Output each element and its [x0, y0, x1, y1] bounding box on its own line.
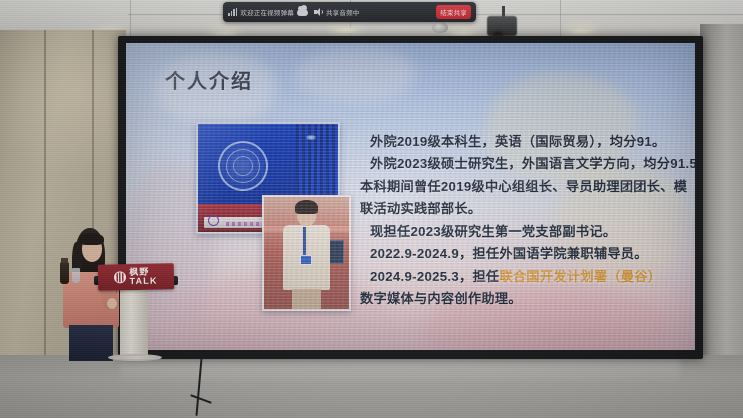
- badge-icon: [300, 255, 312, 265]
- water-bottle: [60, 262, 69, 284]
- slide-line: 外院2023级硕士研究生，外国语言文学方向，均分91.5。: [360, 157, 690, 170]
- decorative-blob: [296, 47, 416, 102]
- stop-share-label: 结束共享: [440, 7, 467, 17]
- cloud-icon: [297, 9, 308, 16]
- slide-line: 外院2019级本科生，英语（国际贸易），均分91。: [360, 135, 690, 148]
- ceiling-downlight: [333, 27, 359, 34]
- ceiling-seam: [130, 0, 131, 36]
- podium: 枫野 TALK: [94, 276, 178, 360]
- speaker-icon: [314, 8, 323, 16]
- slide-surface: 个人介绍: [126, 43, 695, 350]
- slide-body-text: 外院2019级本科生，英语（国际贸易），均分91。 外院2023级硕士研究生，外…: [360, 135, 690, 315]
- brand-mark-icon: [114, 271, 126, 283]
- slide-line: 本科期间曾任2019级中心组组长、导员助理团团长、模: [360, 180, 690, 193]
- un-emblem-icon: [218, 141, 268, 191]
- screenshot-root: 个人介绍: [0, 0, 743, 418]
- dome-camera-icon: [432, 22, 448, 33]
- right-wall-panel: [700, 24, 743, 362]
- slide-line-prefix: 2024.9-2025.3，担任: [370, 269, 499, 284]
- slide-line: 2022.9-2024.9，担任外国语学院兼职辅导员。: [360, 247, 690, 260]
- person-with-lanyard-photo: [262, 195, 351, 311]
- bottle-cap: [61, 258, 68, 263]
- floor-reflection: [120, 357, 680, 383]
- audio-status-label: 共享音频中: [326, 7, 360, 17]
- slide-line: 现担任2023级研究生第一党支部副书记。: [360, 225, 690, 238]
- audio-status-group[interactable]: 共享音频中: [314, 7, 360, 17]
- led-wall-display: 个人介绍: [118, 36, 703, 359]
- podium-sign-en: TALK: [129, 277, 157, 287]
- wall-seam: [44, 30, 46, 360]
- screen-share-toolbar[interactable]: 欢迎正在视频弹幕 共享音频中 结束共享: [223, 2, 476, 22]
- slide-line: 数字媒体与内容创作助理。: [360, 292, 690, 305]
- organization-logo-icon: [208, 215, 219, 226]
- drinking-glass: [72, 268, 80, 283]
- page-title: 个人介绍: [165, 65, 253, 94]
- network-status-group: 欢迎正在视频弹幕: [228, 7, 308, 17]
- ceiling-downlight: [568, 28, 594, 35]
- signal-bars-icon: [228, 8, 237, 16]
- ceiling-seam: [560, 0, 561, 36]
- podium-sign: 枫野 TALK: [98, 263, 175, 291]
- network-status-label: 欢迎正在视频弹幕: [240, 7, 294, 17]
- slide-line: 联活动实践部部长。: [360, 202, 690, 215]
- stop-share-button[interactable]: 结束共享: [436, 5, 471, 19]
- slide-line-highlighted: 2024.9-2025.3，担任联合国开发计划署（曼谷）: [360, 270, 690, 283]
- ceiling-projector: [483, 6, 519, 36]
- slide-line-highlight: 联合国开发计划署（曼谷）: [499, 269, 661, 284]
